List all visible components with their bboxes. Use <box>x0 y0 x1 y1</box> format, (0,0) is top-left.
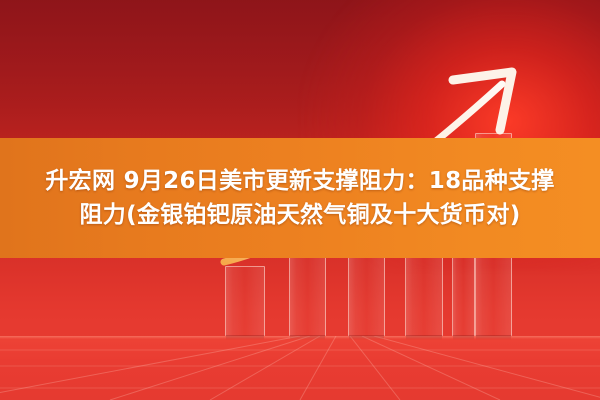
floor-grid-lines <box>0 336 600 400</box>
chart-bar-1 <box>225 266 265 336</box>
promo-banner-image: 升宏网 9月26日美市更新支撑阻力：18品种支撑 阻力(金银铂钯原油天然气铜及十… <box>0 0 600 400</box>
headline-line-1: 升宏网 9月26日美市更新支撑阻力：18品种支撑 <box>45 164 554 198</box>
perspective-floor <box>0 336 600 400</box>
headline-line-2: 阻力(金银铂钯原油天然气铜及十大货币对) <box>79 198 520 232</box>
headline-banner: 升宏网 9月26日美市更新支撑阻力：18品种支撑 阻力(金银铂钯原油天然气铜及十… <box>0 138 600 258</box>
